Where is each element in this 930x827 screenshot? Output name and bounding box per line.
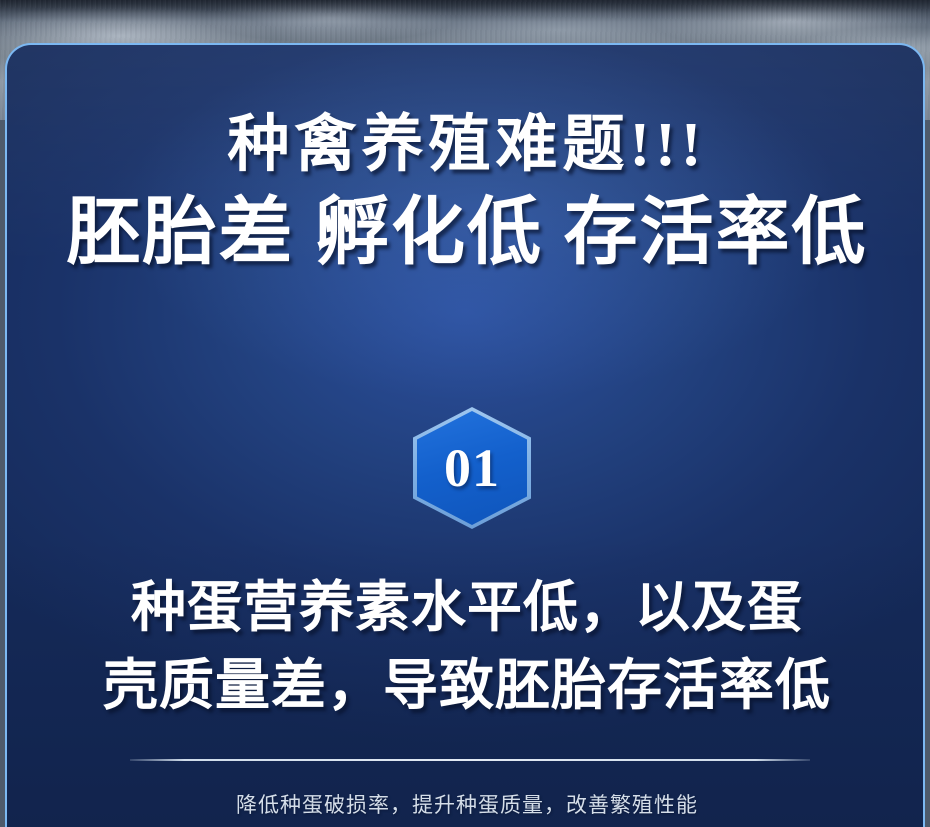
step-number-badge: 01: [413, 407, 531, 529]
headline-line-2: 胚胎差 孵化低 存活率低: [7, 187, 925, 279]
statement-line-2: 壳质量差，导致胚胎存活率低: [7, 647, 925, 725]
step-number-label: 01: [413, 407, 531, 529]
footer-tagline: 降低种蛋破损率，提升种蛋质量，改善繁殖性能: [7, 791, 925, 821]
promo-poster: 种禽养殖难题!!! 胚胎差 孵化低 存活率低 01 种蛋营养素水平低，以及蛋 壳…: [0, 0, 930, 827]
horizontal-divider: [130, 759, 810, 761]
headline-line-1: 种禽养殖难题!!!: [7, 107, 925, 183]
statement-line-1: 种蛋营养素水平低，以及蛋: [7, 569, 925, 647]
blue-content-panel: 种禽养殖难题!!! 胚胎差 孵化低 存活率低 01 种蛋营养素水平低，以及蛋 壳…: [5, 43, 925, 827]
headline-block: 种禽养殖难题!!! 胚胎差 孵化低 存活率低: [7, 107, 925, 279]
statement-block: 种蛋营养素水平低，以及蛋 壳质量差，导致胚胎存活率低: [7, 569, 925, 725]
smoke-top-shade: [0, 0, 930, 22]
